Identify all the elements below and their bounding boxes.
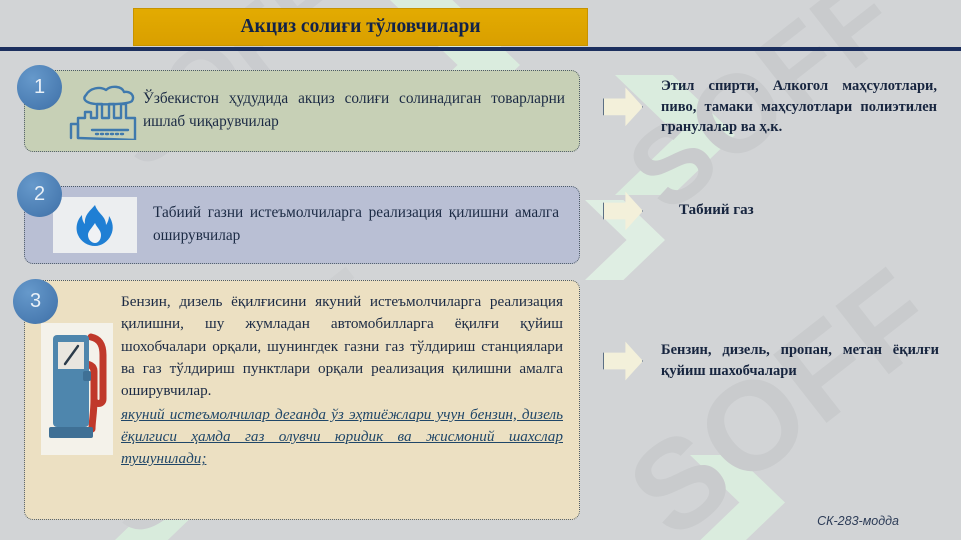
step-badge-2: 2 [17,172,62,217]
annotation-text-3: Бензин, дизель, пропан, метан ёқилғи қуй… [661,340,939,381]
annotation-2: Табиий газ [603,190,953,232]
taxpayer-text-2: Табиий газни истеъмолчиларга реализация … [153,202,559,248]
factory-icon [63,82,143,140]
step-badge-1: 1 [17,65,62,110]
arrow-right-icon [603,340,643,382]
taxpayer-card-2: Табиий газни истеъмолчиларга реализация … [24,186,580,264]
page-title-bar: Акциз солиғи тўловчилари [133,8,588,46]
step-badge-3: 3 [13,279,58,324]
taxpayer-text-3: Бензин, дизель ёқилғисини якуний истеъмо… [121,291,563,471]
page-title: Акциз солиғи тўловчилари [240,16,480,38]
fuel-pump-icon [37,323,117,455]
taxpayer-card-1: Ўзбекистон ҳудудида акциз солиғи солинад… [24,70,580,152]
annotation-text-2: Табиий газ [679,200,929,221]
taxpayer-text-3-emphasis: якуний истеъмолчилар деганда ўз эҳтиёжла… [121,404,563,471]
taxpayer-card-3: Бензин, дизель ёқилғисини якуний истеъмо… [24,280,580,520]
header-divider [0,47,961,51]
flame-icon [53,197,137,253]
taxpayer-text-3-main: Бензин, дизель ёқилғисини якуний истеъмо… [121,293,563,399]
taxpayer-text-1: Ўзбекистон ҳудудида акциз солиғи солинад… [143,88,565,134]
legal-reference: СК-283-модда [817,514,899,528]
annotation-text-1: Этил спирти, Алкогол маҳсулотлари, пиво,… [661,76,937,138]
annotation-1: Этил спирти, Алкогол маҳсулотлари, пиво,… [603,76,953,138]
annotation-3: Бензин, дизель, пропан, метан ёқилғи қуй… [603,340,953,382]
soff-watermark-text: SOFF [602,239,961,540]
arrow-right-icon [603,190,643,232]
arrow-right-icon [603,86,643,128]
chevron-watermark [690,455,785,540]
